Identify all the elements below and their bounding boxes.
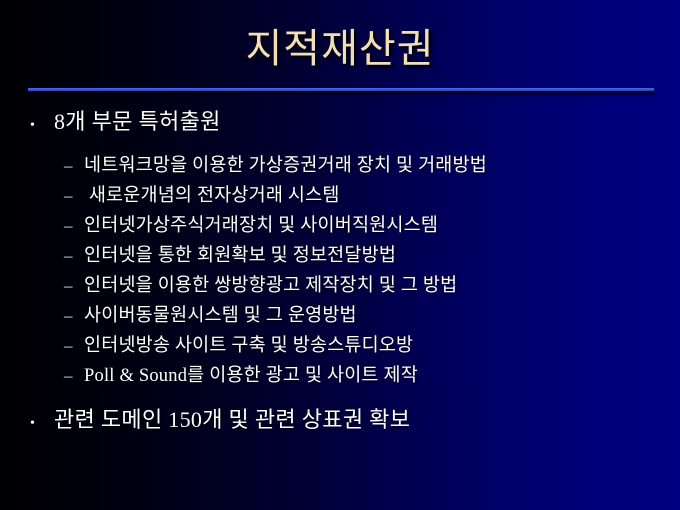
- bullet-marker-icon: •: [30, 406, 54, 442]
- sub-bullet-label: 네트워크망을 이용한 가상증권거래 장치 및 거래방법: [84, 152, 487, 181]
- sub-bullet-item: – 새로운개념의 전자상거래 시스템: [0, 181, 680, 211]
- sub-bullet-item: –인터넷을 통한 회원확보 및 정보전달방법: [0, 241, 680, 271]
- title-rule-shadow: [30, 92, 656, 94]
- sub-bullet-item: –사이버동물원시스템 및 그 운영방법: [0, 301, 680, 331]
- sub-bullet-label: 새로운개념의 전자상거래 시스템: [84, 182, 340, 211]
- sub-bullet-label: 인터넷을 이용한 쌍방향광고 제작장치 및 그 방법: [84, 272, 457, 301]
- dash-marker-icon: –: [64, 361, 84, 390]
- dash-marker-icon: –: [64, 271, 84, 300]
- slide-title: 지적재산권: [246, 26, 435, 72]
- dash-marker-icon: –: [64, 181, 84, 210]
- sub-bullet-item: –네트워크망을 이용한 가상증권거래 장치 및 거래방법: [0, 151, 680, 181]
- sub-bullet-item: –인터넷을 이용한 쌍방향광고 제작장치 및 그 방법: [0, 271, 680, 301]
- bullet-item: •관련 도메인 150개 및 관련 상표권 확보: [0, 402, 680, 442]
- sub-bullet-item: –인터넷가상주식거래장치 및 사이버직원시스템: [0, 211, 680, 241]
- slide-body-list: •8개 부문 특허출원–네트워크망을 이용한 가상증권거래 장치 및 거래방법–…: [0, 104, 680, 442]
- sub-bullet-label: 사이버동물원시스템 및 그 운영방법: [84, 302, 357, 331]
- bullet-item: •8개 부문 특허출원: [0, 104, 680, 144]
- dash-marker-icon: –: [64, 151, 84, 180]
- sub-bullet-item: –인터넷방송 사이트 구축 및 방송스튜디오방: [0, 331, 680, 361]
- bullet-marker-icon: •: [30, 108, 54, 144]
- sub-bullet-label: Poll & Sound를 이용한 광고 및 사이트 제작: [84, 362, 418, 391]
- title-divider-rule: [28, 88, 654, 91]
- slide-title-block: 지적재산권: [0, 26, 680, 72]
- dash-marker-icon: –: [64, 301, 84, 330]
- sub-bullet-label: 인터넷을 통한 회원확보 및 정보전달방법: [84, 242, 396, 271]
- dash-marker-icon: –: [64, 211, 84, 240]
- sub-bullet-label: 인터넷방송 사이트 구축 및 방송스튜디오방: [84, 332, 413, 361]
- dash-marker-icon: –: [64, 241, 84, 270]
- bullet-label: 8개 부문 특허출원: [54, 104, 221, 140]
- presentation-slide: 지적재산권 •8개 부문 특허출원–네트워크망을 이용한 가상증권거래 장치 및…: [0, 0, 680, 510]
- sub-bullet-item: –Poll & Sound를 이용한 광고 및 사이트 제작: [0, 361, 680, 391]
- bullet-label: 관련 도메인 150개 및 관련 상표권 확보: [54, 402, 410, 438]
- sub-bullet-label: 인터넷가상주식거래장치 및 사이버직원시스템: [84, 212, 438, 241]
- dash-marker-icon: –: [64, 331, 84, 360]
